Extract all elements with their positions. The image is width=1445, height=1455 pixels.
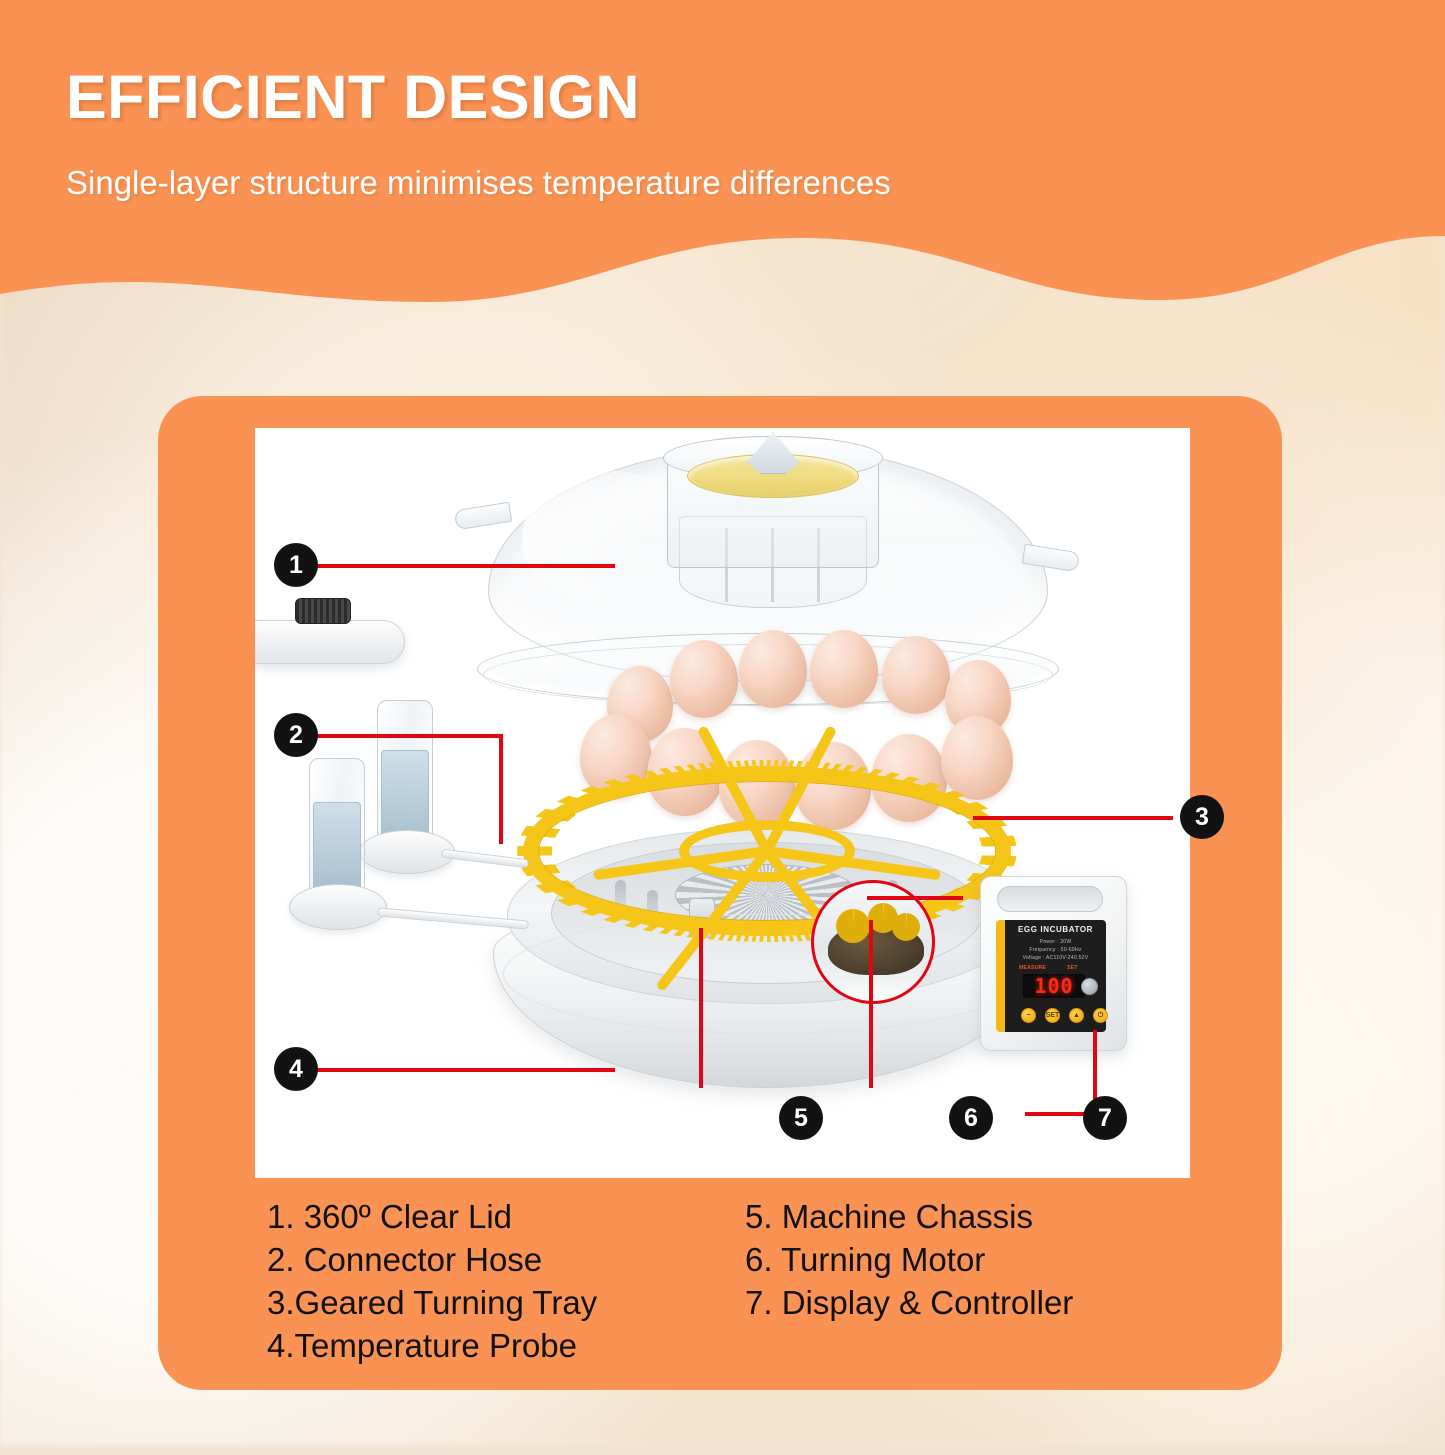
leader-line-1	[285, 564, 615, 568]
connector-hose-upper	[441, 849, 529, 869]
controller-top-slot	[997, 886, 1103, 912]
leader-line-3	[973, 816, 1173, 820]
leader-line-6-vertical	[869, 920, 873, 1088]
callout-bullet-7[interactable]: 7	[1083, 1096, 1127, 1140]
legend-item-4: 4.Temperature Probe	[267, 1325, 597, 1368]
callout-bullet-5[interactable]: 5	[779, 1096, 823, 1140]
controller-button-minus[interactable]: −	[1021, 1008, 1036, 1023]
callout-bullet-6[interactable]: 6	[949, 1096, 993, 1140]
egg	[882, 636, 950, 714]
controller-face: EGG INCUBATOR Power : 30W Frequency : 50…	[996, 920, 1106, 1032]
legend-item-2: 2. Connector Hose	[267, 1239, 597, 1282]
leader-line-2-vertical	[499, 734, 503, 844]
egg	[670, 640, 738, 718]
controller-foot	[255, 620, 405, 664]
callout-bullet-2[interactable]: 2	[274, 713, 318, 757]
controller-spec-power: Power : 30W	[1005, 939, 1106, 945]
display-controller[interactable]: EGG INCUBATOR Power : 30W Frequency : 50…	[980, 876, 1127, 1051]
controller-led-display: 100	[1023, 974, 1085, 998]
leader-line-2-horizontal	[287, 734, 503, 738]
motor-gear	[892, 913, 920, 941]
content-panel: EGG INCUBATOR Power : 30W Frequency : 50…	[158, 396, 1282, 1390]
motor-gear	[836, 909, 870, 943]
controller-spec-frequency: Frequency : 50-60Hz	[1005, 947, 1106, 953]
legend-item-6: 6. Turning Motor	[745, 1239, 1073, 1282]
controller-measure-label: MEASURE	[1019, 965, 1046, 971]
callout-bullet-4[interactable]: 4	[274, 1047, 318, 1091]
leader-line-4	[285, 1068, 615, 1072]
controller-button-power[interactable]: ⏻	[1093, 1008, 1108, 1023]
lid-handle-left	[454, 502, 512, 531]
page-subtitle: Single-layer structure minimises tempera…	[66, 160, 1126, 207]
water-bottle-front-base	[289, 884, 387, 930]
callout-bullet-1[interactable]: 1	[274, 543, 318, 587]
legend-column-right: 5. Machine Chassis 6. Turning Motor 7. D…	[745, 1196, 1073, 1325]
legend-item-7: 7. Display & Controller	[745, 1282, 1073, 1325]
controller-button-up[interactable]: ▲	[1069, 1008, 1084, 1023]
leader-line-6-horizontal	[867, 896, 963, 900]
page-title: EFFICIENT DESIGN	[66, 62, 640, 132]
legend-column-left: 1. 360º Clear Lid 2. Connector Hose 3.Ge…	[267, 1196, 597, 1368]
legend-item-5: 5. Machine Chassis	[745, 1196, 1073, 1239]
controller-spec-voltage: Voltage : AC110V-240.52V	[1005, 955, 1106, 961]
callout-bullet-3[interactable]: 3	[1180, 795, 1224, 839]
header-wave-shape	[0, 0, 1445, 302]
controller-indicator-knob[interactable]	[1081, 978, 1098, 995]
egg	[941, 716, 1013, 800]
egg	[810, 630, 878, 708]
product-figure: EGG INCUBATOR Power : 30W Frequency : 50…	[255, 428, 1190, 1178]
legend-item-1: 1. 360º Clear Lid	[267, 1196, 597, 1239]
controller-set-label: SET	[1067, 965, 1077, 971]
controller-button-set[interactable]: SET	[1045, 1008, 1060, 1023]
egg	[739, 630, 807, 708]
legend-item-3: 3.Geared Turning Tray	[267, 1282, 597, 1325]
leader-line-5	[699, 928, 703, 1088]
connector-hose-lower	[377, 907, 529, 929]
exploded-diagram: EGG INCUBATOR Power : 30W Frequency : 50…	[255, 428, 1190, 1178]
controller-brand-label: EGG INCUBATOR	[1005, 925, 1106, 934]
controller-stem	[295, 598, 351, 624]
